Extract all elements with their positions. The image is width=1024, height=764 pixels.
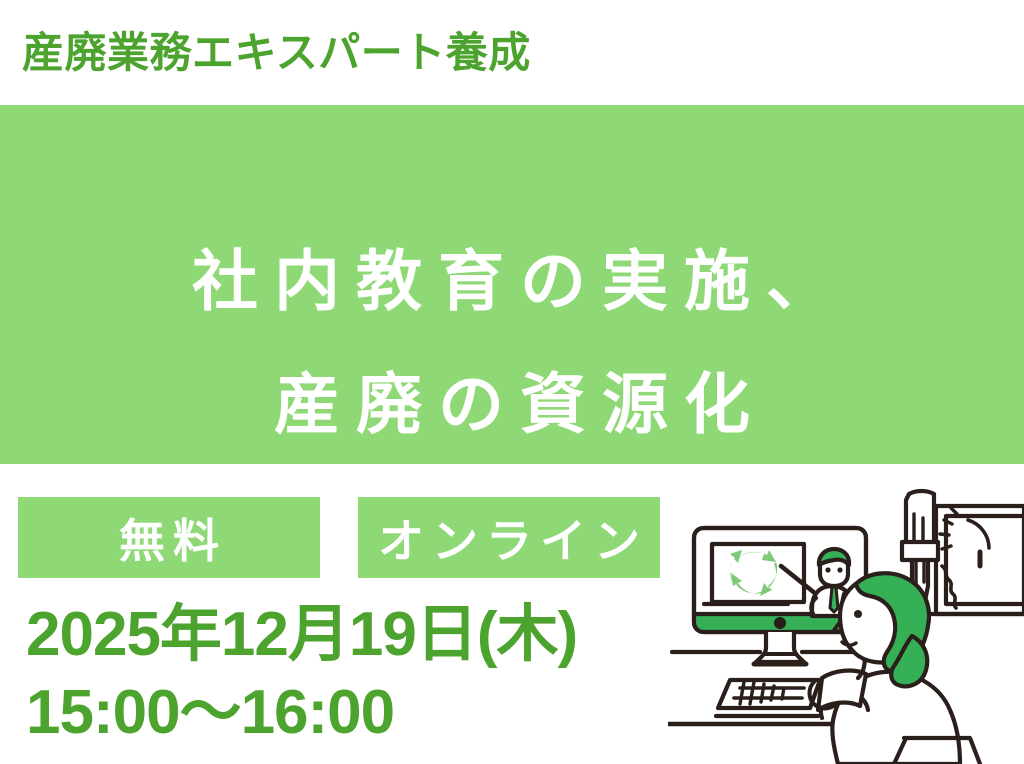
program-eyebrow-title: 産廃業務エキスパート養成 [22,24,922,84]
badge-free: 無料 [18,497,320,578]
seminar-poster: 産廃業務エキスパート養成 社内教育の実施、 産廃の資源化 に取り組みたい排出事業… [0,0,1024,764]
seminar-date: 2025年12月19日(木) [26,604,577,666]
hero-title-line-2: 産廃の資源化 [0,371,1024,437]
keyboard-icon [716,680,820,716]
online-seminar-illustration [668,466,1024,764]
window-frame-icon [930,506,1024,614]
desktop-monitor-icon [694,528,866,664]
seminar-time: 15:00〜16:00 [26,682,394,744]
badge-online: オンライン [358,497,660,578]
hero-title-line-1: 社内教育の実施、 [0,248,1024,314]
hero-banner: 社内教育の実施、 産廃の資源化 に取り組みたい排出事業者向けセミナー [0,105,1024,464]
